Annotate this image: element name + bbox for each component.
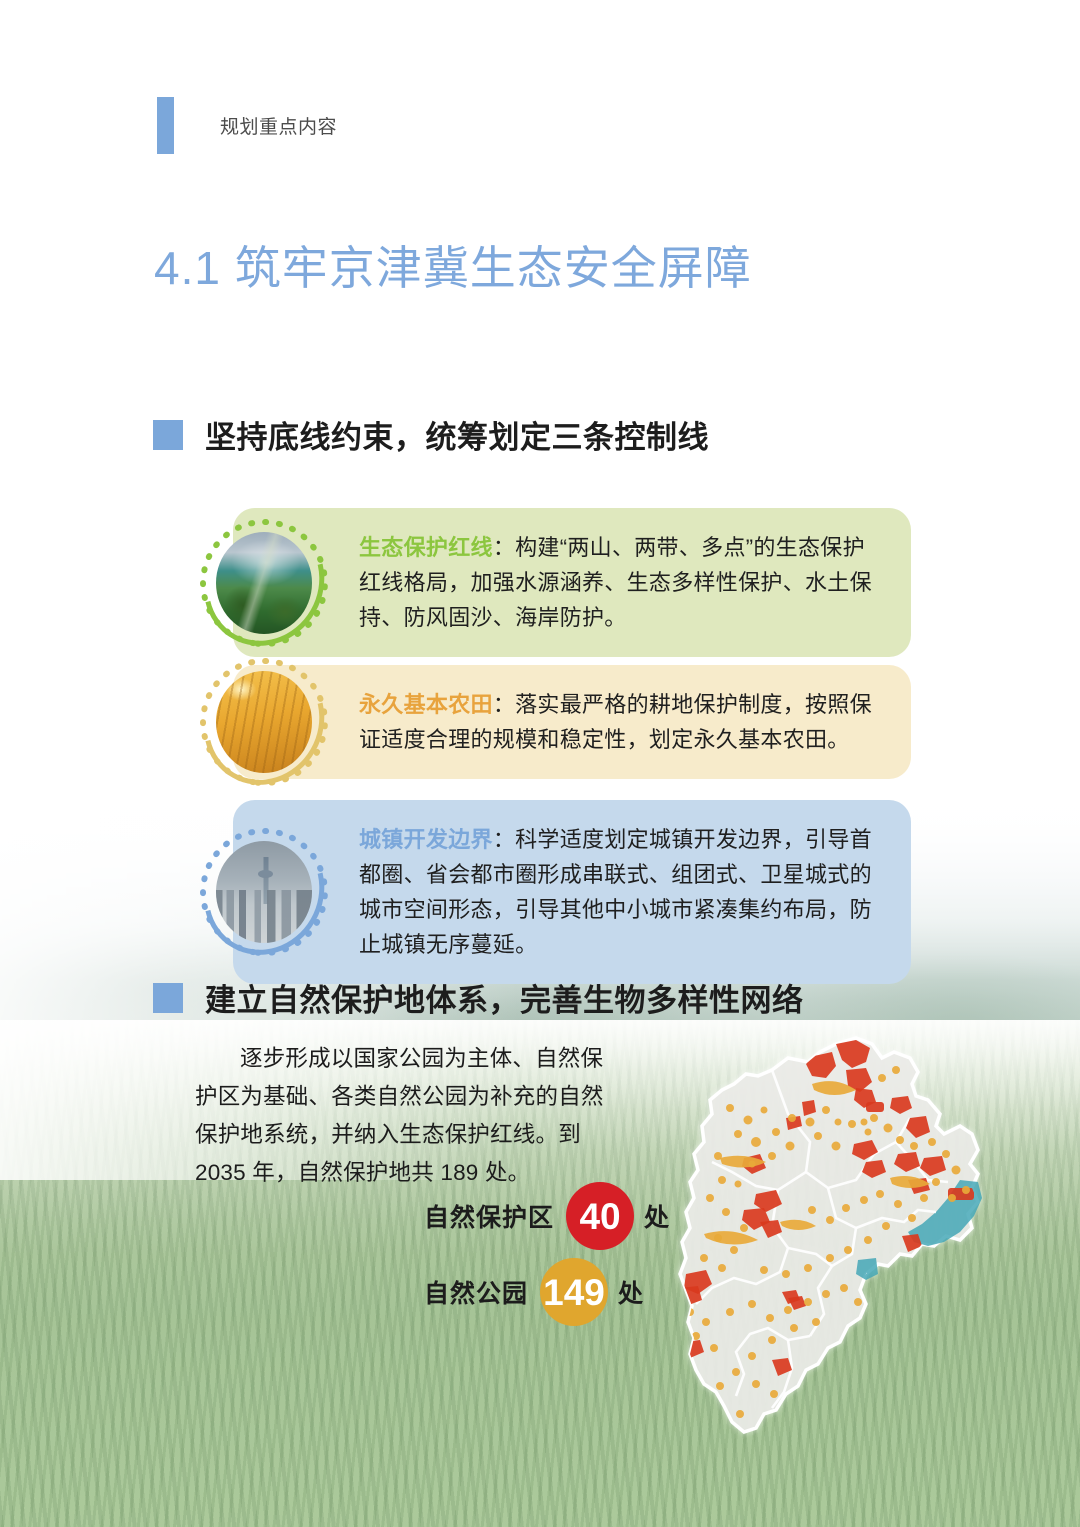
body-paragraph: 逐步形成以国家公园为主体、自然保护区为基础、各类自然公园为补充的自然保护地系统，… bbox=[195, 1040, 620, 1192]
map-svg bbox=[660, 1022, 1020, 1452]
mountain-valley-thumbnail-icon bbox=[205, 519, 323, 647]
stat-row: 自然保护区 40 处 bbox=[424, 1178, 669, 1254]
card-separator: ： bbox=[493, 692, 515, 717]
card-body: 生态保护红线：构建“两山、两带、多点”的生态保护红线格局，加强水源涵养、生态多样… bbox=[233, 508, 911, 657]
subheading-square-icon bbox=[153, 420, 183, 450]
thumbnail-photo bbox=[216, 532, 312, 634]
page-root: 规划重点内容 4.1 筑牢京津冀生态安全屏障 坚持底线约束，统筹划定三条控制线 … bbox=[0, 0, 1080, 1527]
subheading-square-icon bbox=[153, 983, 183, 1013]
stat-label: 自然保护区 bbox=[424, 1198, 554, 1234]
tv-tower-icon bbox=[263, 857, 268, 904]
stat-row: 自然公园 149 处 bbox=[424, 1254, 669, 1330]
card-key-label: 城镇开发边界 bbox=[359, 827, 493, 852]
breadcrumb: 规划重点内容 bbox=[157, 97, 337, 154]
subheading-label: 建立自然保护地体系，完善生物多样性网络 bbox=[205, 975, 804, 1020]
breadcrumb-accent-bar bbox=[157, 97, 174, 154]
card-key-label: 永久基本农田 bbox=[359, 692, 493, 717]
subheading-label: 坚持底线约束，统筹划定三条控制线 bbox=[205, 412, 709, 457]
subheading-control-lines: 坚持底线约束，统筹划定三条控制线 bbox=[153, 412, 709, 457]
thumbnail-photo bbox=[216, 671, 312, 773]
card-body: 永久基本农田：落实最严格的耕地保护制度，按照保证适度合理的规模和稳定性，划定永久… bbox=[233, 665, 911, 779]
stat-unit: 处 bbox=[618, 1274, 643, 1310]
statistics-group: 自然保护区 40 处 自然公园 149 处 bbox=[424, 1178, 669, 1330]
stat-label: 自然公园 bbox=[424, 1274, 528, 1310]
protected-areas-map bbox=[660, 1022, 1020, 1452]
card-body: 城镇开发边界：科学适度划定城镇开发边界，引导首都圈、省会都市圈形成串联式、组团式… bbox=[233, 800, 911, 984]
card-separator: ： bbox=[493, 827, 515, 852]
page-content: 规划重点内容 4.1 筑牢京津冀生态安全屏障 坚持底线约束，统筹划定三条控制线 … bbox=[0, 0, 1080, 1527]
card-separator: ： bbox=[493, 535, 515, 560]
card-key-label: 生态保护红线 bbox=[359, 535, 493, 560]
thumbnail-photo bbox=[216, 841, 312, 943]
card-permanent-farmland: 永久基本农田：落实最严格的耕地保护制度，按照保证适度合理的规模和稳定性，划定永久… bbox=[233, 665, 911, 779]
stat-badge: 40 bbox=[566, 1182, 634, 1250]
breadcrumb-label: 规划重点内容 bbox=[220, 112, 337, 139]
card-urban-development-boundary: 城镇开发边界：科学适度划定城镇开发边界，引导首都圈、省会都市圈形成串联式、组团式… bbox=[233, 800, 911, 984]
subheading-protected-areas: 建立自然保护地体系，完善生物多样性网络 bbox=[153, 975, 804, 1020]
card-ecological-red-line: 生态保护红线：构建“两山、两带、多点”的生态保护红线格局，加强水源涵养、生态多样… bbox=[233, 508, 911, 657]
city-skyline-thumbnail-icon bbox=[205, 828, 323, 956]
wheat-field-thumbnail-icon bbox=[205, 658, 323, 786]
page-title: 4.1 筑牢京津冀生态安全屏障 bbox=[154, 232, 752, 298]
stat-badge: 149 bbox=[540, 1258, 608, 1326]
